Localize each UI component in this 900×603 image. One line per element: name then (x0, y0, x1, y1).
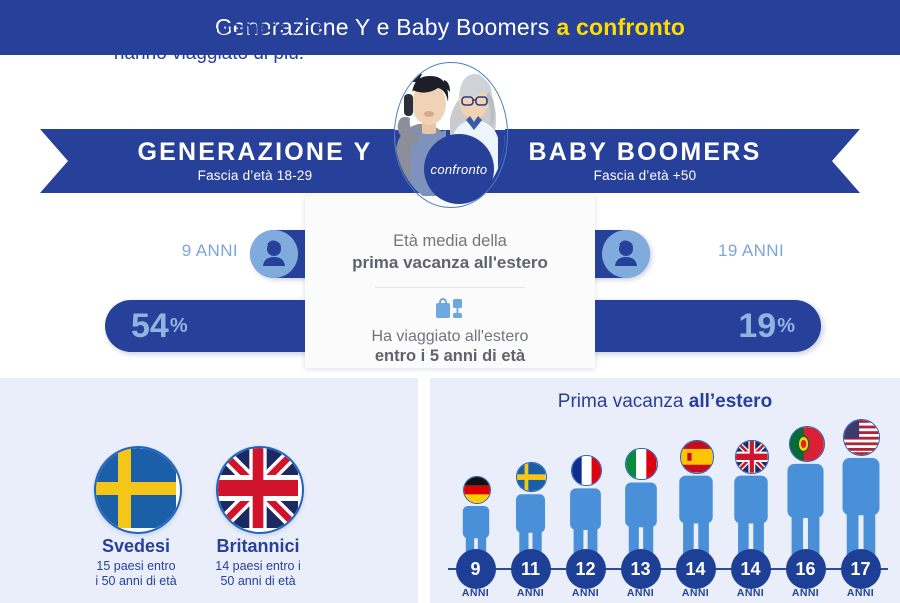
chart-value-circle: 13 (621, 549, 661, 589)
most-travelled-heading: Ecco i Baby Boomers che hanno viaggiato … (0, 16, 418, 66)
banner-left-subtitle: Fascia d’età 18-29 (198, 168, 313, 183)
left-percent-value: 54 (131, 309, 169, 343)
chart-value-circle: 9 (456, 549, 496, 589)
right-percent-symbol: % (777, 315, 795, 338)
uk-flag-icon (216, 446, 304, 534)
right-age-label: 19 ANNI (718, 241, 818, 261)
heading-line-2: hanno viaggiato di più: (114, 43, 304, 64)
country-detail-line2: i 50 anni di età (95, 574, 176, 588)
heading-part-1: Ecco i (95, 18, 152, 39)
chart-value-circle: 14 (731, 549, 771, 589)
country-detail-line2: 50 anni di età (220, 574, 295, 588)
chart-value-circle: 14 (676, 549, 716, 589)
metric-2-value: entro i 5 anni di età (375, 347, 525, 366)
luggage-icon (435, 297, 465, 324)
metric-1-value: prima vacanza all'estero (352, 253, 548, 273)
infographic-page: Generazione Y e Baby Boomers a confronto… (0, 0, 900, 603)
banner-left-title: GENERAZIONE Y (137, 139, 372, 165)
chart-value-circle: 12 (566, 549, 606, 589)
confronto-badge: confronto (424, 134, 494, 204)
spain-flag-icon (680, 440, 714, 474)
right-percent-value: 19 (738, 309, 776, 343)
older-person-avatar-icon (602, 230, 650, 278)
card-divider (375, 287, 525, 288)
country-caption-uk: Britannici 14 paesi entro i 50 anni di e… (183, 536, 333, 590)
italy-flag-icon (625, 448, 658, 481)
portugal-flag-icon (789, 426, 825, 462)
sweden-flag-icon (94, 446, 182, 534)
chart-value-circle: 16 (786, 549, 826, 589)
germany-flag-icon (463, 476, 491, 504)
chart-figure (840, 419, 882, 568)
country-detail-line1: 14 paesi entro i (215, 559, 300, 573)
metric-2-label: Ha viaggiato all'estero (372, 328, 529, 346)
young-man-avatar-icon (250, 230, 298, 278)
page-title-accent: a confronto (556, 14, 685, 41)
left-age-label: 9 ANNI (148, 241, 238, 261)
chart-value-circle: 17 (841, 549, 881, 589)
banner-right-title: BABY BOOMERS (529, 139, 762, 165)
country-name: Britannici (183, 536, 333, 557)
sweden-flag-icon (516, 462, 546, 492)
banner-right-subtitle: Fascia d’età +50 (594, 168, 697, 183)
comparison-metric-card: Età media della prima vacanza all'estero… (305, 196, 595, 368)
usa-flag-icon (843, 419, 880, 456)
chart-figure (785, 426, 826, 568)
uk-flag-icon (735, 440, 769, 474)
heading-part-1: Prima vacanza (558, 391, 689, 412)
metric-1-label: Età media della (393, 232, 507, 251)
heading-part-bold: all’estero (689, 391, 772, 412)
country-detail-line1: 15 paesi entro (96, 559, 175, 573)
chart-value-circle: 11 (511, 549, 551, 589)
chart-figures (430, 410, 900, 603)
left-percent-symbol: % (170, 315, 188, 338)
heading-part-bold: Baby Boomers (153, 18, 287, 39)
heading-part-3: che (287, 18, 323, 39)
